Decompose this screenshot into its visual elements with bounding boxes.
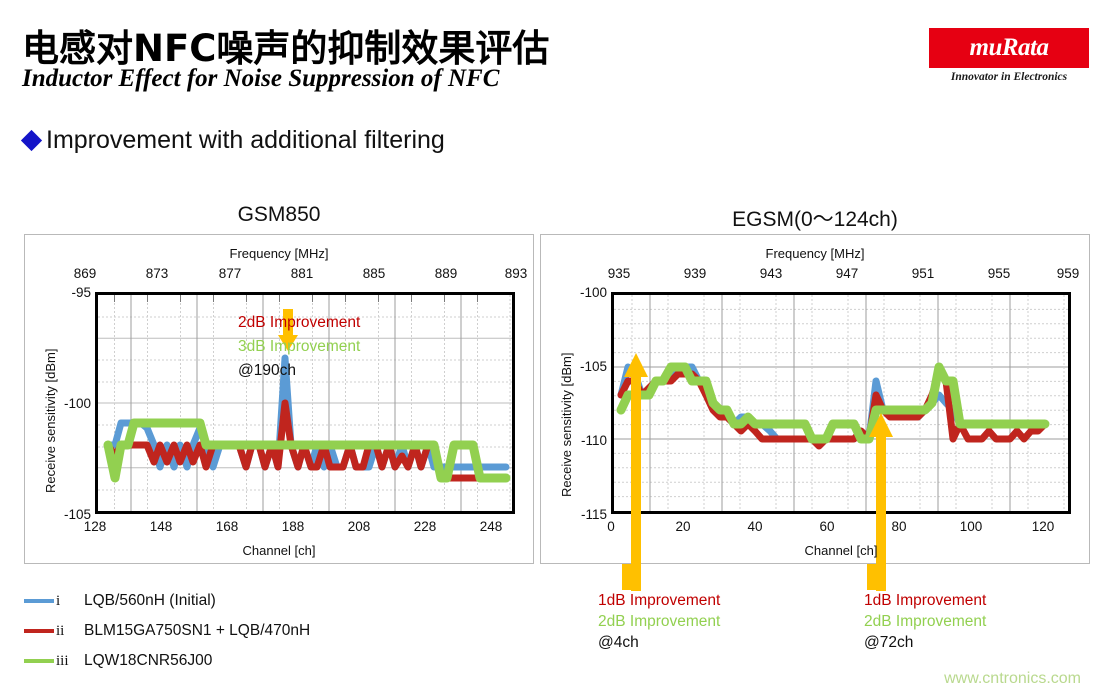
page-title-en: Inductor Effect for Noise Suppression of…	[22, 65, 499, 93]
egsm-y-axis-title: Receive sensitivity [dBm]	[559, 353, 574, 498]
egsm-xtick-1: 20	[663, 519, 703, 534]
gsm850-xtick-2: 168	[207, 519, 247, 534]
legend-swatch-iii	[24, 659, 54, 663]
gsm850-ftick-5: 889	[426, 266, 466, 281]
egsm-annotation-4ch-ch: @4ch	[598, 632, 720, 653]
diamond-bullet-icon	[21, 130, 42, 151]
egsm-xtick-4: 80	[879, 519, 919, 534]
logo-red-box: muRata	[929, 28, 1089, 68]
legend-item-ii: ii BLM15GA750SN1 + LQB/470nH	[24, 616, 310, 646]
egsm-arrow-4ch-tail	[622, 564, 632, 590]
logo-wordmark: muRata	[929, 28, 1089, 68]
series-legend: i LQB/560nH (Initial) ii BLM15GA750SN1 +…	[24, 586, 310, 676]
egsm-top-axis-title: Frequency [MHz]	[541, 246, 1089, 261]
egsm-ytick-1: -105	[563, 359, 607, 374]
legend-swatch-ii	[24, 629, 54, 633]
egsm-annotation-4ch-red: 1dB Improvement	[598, 590, 720, 611]
gsm850-ftick-1: 873	[137, 266, 177, 281]
gsm850-annotation-2: @190ch	[238, 361, 296, 380]
egsm-ftick-4: 951	[903, 266, 943, 281]
egsm-ftick-5: 955	[979, 266, 1019, 281]
egsm-xtick-2: 40	[735, 519, 775, 534]
egsm-ytick-2: -110	[563, 433, 607, 448]
gsm850-plot-area: 2dB Improvement 3dB Improvement @190ch	[95, 292, 515, 514]
egsm-ftick-1: 939	[675, 266, 715, 281]
chart-panel-egsm: Frequency [MHz] 935 939 943 947 951 955 …	[540, 234, 1090, 564]
egsm-xtick-5: 100	[951, 519, 991, 534]
egsm-ftick-0: 935	[599, 266, 639, 281]
legend-marker-i: i	[56, 593, 84, 610]
egsm-annotation-4ch: 1dB Improvement 2dB Improvement @4ch	[598, 590, 720, 653]
watermark: www.cntronics.com	[944, 670, 1081, 688]
egsm-annotation-72ch-green: 2dB Improvement	[864, 611, 986, 632]
gsm850-xtick-3: 188	[273, 519, 313, 534]
egsm-xtick-3: 60	[807, 519, 847, 534]
gsm850-annotation-1: 3dB Improvement	[238, 337, 360, 356]
gsm850-xtick-5: 228	[405, 519, 445, 534]
egsm-annotation-72ch-red: 1dB Improvement	[864, 590, 986, 611]
legend-marker-iii: iii	[56, 653, 84, 670]
gsm850-xtick-4: 208	[339, 519, 379, 534]
gsm850-top-axis-title: Frequency [MHz]	[25, 246, 533, 261]
legend-swatch-i	[24, 599, 54, 603]
egsm-arrow-72ch-tail	[867, 564, 877, 590]
egsm-xtick-6: 120	[1023, 519, 1063, 534]
legend-marker-ii: ii	[56, 623, 84, 640]
chart-title-egsm: EGSM(0～124ch)	[540, 203, 1090, 233]
legend-label-iii: LQW18CNR56J00	[84, 652, 212, 670]
gsm850-top-ticks	[115, 295, 478, 302]
egsm-annotation-72ch: 1dB Improvement 2dB Improvement @72ch	[864, 590, 986, 653]
egsm-ftick-3: 947	[827, 266, 867, 281]
legend-item-i: i LQB/560nH (Initial)	[24, 586, 310, 616]
gsm850-ftick-6: 893	[496, 266, 536, 281]
logo-tagline: Innovator in Electronics	[929, 71, 1089, 83]
egsm-plot-area	[611, 292, 1071, 514]
page-title-cn: 电感对NFC噪声的抑制效果评估	[22, 18, 549, 72]
legend-item-iii: iii LQW18CNR56J00	[24, 646, 310, 676]
legend-label-i: LQB/560nH (Initial)	[84, 592, 216, 610]
gsm850-y-axis-title: Receive sensitivity [dBm]	[43, 349, 58, 494]
chart-panel-gsm850: Frequency [MHz] 869 873 877 881 885 889 …	[24, 234, 534, 564]
section-heading-label: Improvement with additional filtering	[46, 126, 445, 155]
gsm850-ytick-1: -100	[47, 396, 91, 411]
gsm850-xtick-6: 248	[471, 519, 511, 534]
egsm-series-iii	[621, 367, 1045, 439]
egsm-minor-grid	[614, 309, 1068, 496]
slide-root: 电感对NFC噪声的抑制效果评估 Inductor Effect for Nois…	[0, 0, 1099, 696]
egsm-vgrid-minor	[632, 295, 1064, 511]
egsm-ftick-6: 959	[1048, 266, 1088, 281]
gsm850-annotation-0: 2dB Improvement	[238, 313, 360, 332]
murata-logo: muRata Innovator in Electronics	[929, 28, 1089, 90]
section-heading: Improvement with additional filtering	[24, 126, 445, 155]
gsm850-xtick-1: 148	[141, 519, 181, 534]
legend-label-ii: BLM15GA750SN1 + LQB/470nH	[84, 622, 310, 640]
gsm850-ftick-4: 885	[354, 266, 394, 281]
egsm-annotation-4ch-green: 2dB Improvement	[598, 611, 720, 632]
egsm-series-ii	[621, 374, 1045, 446]
gsm850-ftick-2: 877	[210, 266, 250, 281]
egsm-ytick-0: -100	[563, 285, 607, 300]
gsm850-xtick-0: 128	[75, 519, 115, 534]
chart-title-gsm850: GSM850	[24, 203, 534, 227]
egsm-ftick-2: 943	[751, 266, 791, 281]
gsm850-ftick-0: 869	[65, 266, 105, 281]
egsm-x-axis-title: Channel [ch]	[611, 543, 1071, 558]
egsm-annotation-72ch-ch: @72ch	[864, 632, 986, 653]
egsm-plot-svg	[614, 295, 1068, 511]
gsm850-x-axis-title: Channel [ch]	[25, 543, 533, 558]
gsm850-ftick-3: 881	[282, 266, 322, 281]
egsm-xtick-0: 0	[591, 519, 631, 534]
gsm850-ytick-0: -95	[47, 285, 91, 300]
